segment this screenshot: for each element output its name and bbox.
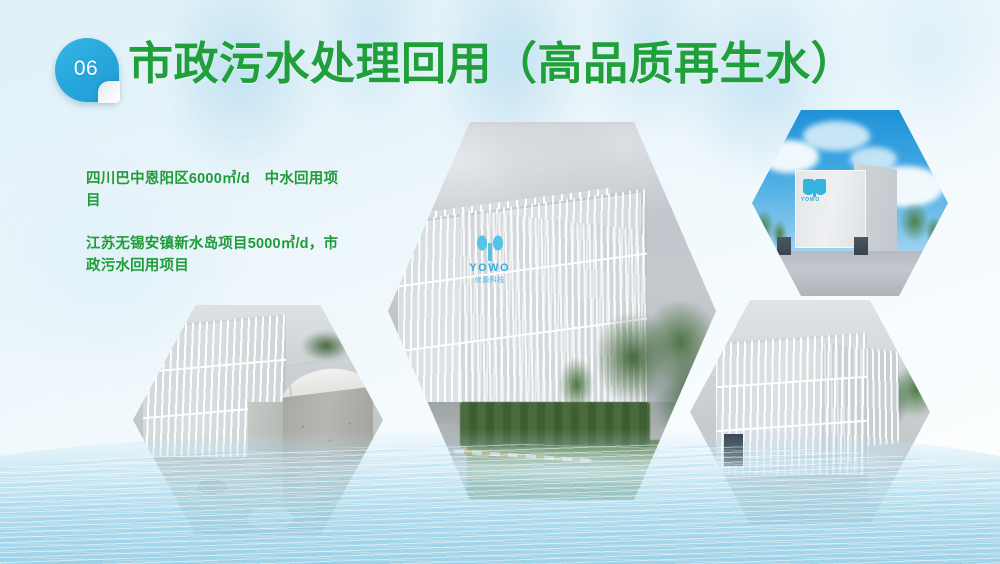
photo-main-mesh-plant: YOWO 优源科技	[388, 122, 716, 500]
paved-ground	[690, 475, 930, 524]
photo-hexagon-top-right: YOWO	[752, 110, 948, 296]
tree-center	[552, 356, 601, 439]
render-logo-wordmark: YOWO	[801, 197, 820, 203]
badge-fold-corner-icon	[98, 81, 120, 103]
concrete-tank-wall	[283, 387, 373, 535]
project-paragraph-2: 江苏无锡安镇新水岛项目5000㎥/d，市政污水回用项目	[86, 233, 352, 278]
dark-access-panel	[724, 434, 743, 465]
leaf-sprout-icon	[477, 235, 503, 261]
cloud-2	[803, 121, 870, 151]
trees-right	[598, 303, 716, 454]
equipment-cabinet	[248, 402, 283, 480]
slide-canvas: 06 市政污水处理回用（高品质再生水） 四川巴中恩阳区6000㎥/d 中水回用项…	[0, 0, 1000, 564]
project-description-block: 四川巴中恩阳区6000㎥/d 中水回用项目 江苏无锡安镇新水岛项目5000㎥/d…	[86, 168, 352, 278]
photo-hexagon-bottom-left	[133, 305, 383, 535]
manhole-cover	[198, 480, 226, 494]
project-paragraph-1: 四川巴中恩阳区6000㎥/d 中水回用项目	[86, 168, 352, 213]
render-door-right	[854, 237, 868, 256]
section-number-badge: 06	[55, 38, 119, 102]
side-wall	[868, 440, 930, 505]
yowo-logo: YOWO 优源科技	[454, 235, 526, 311]
photo-hexagon-bottom-right	[690, 300, 930, 524]
logo-chinese-name: 优源科技	[474, 275, 504, 285]
render-leaf-logo-icon	[803, 179, 827, 198]
grass-strip	[467, 440, 716, 500]
photo-building-render: YOWO	[752, 110, 948, 296]
render-door-left	[777, 237, 791, 256]
tree-right-2	[921, 214, 948, 259]
photo-mesh-building-tanks	[133, 305, 383, 535]
logo-wordmark: YOWO	[469, 262, 510, 274]
photo-mesh-building-greenery	[690, 300, 930, 524]
render-plaza	[752, 251, 948, 296]
page-title: 市政污水处理回用（高品质再生水）	[128, 36, 856, 92]
photo-hexagon-main: YOWO 优源科技	[388, 122, 716, 500]
